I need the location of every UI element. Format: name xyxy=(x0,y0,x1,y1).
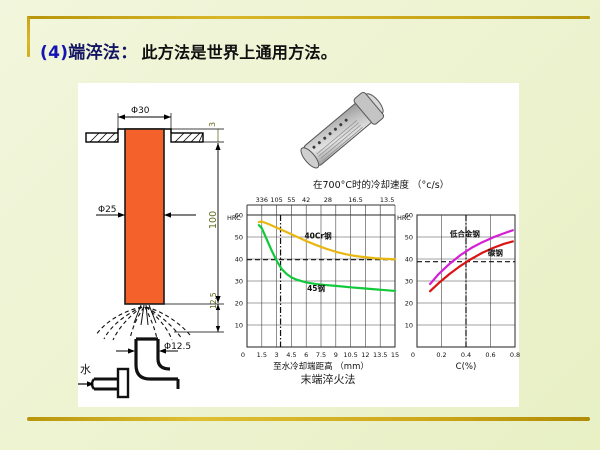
specimen-sketch xyxy=(283,88,403,176)
figure-caption: 末端淬火法 xyxy=(228,371,428,387)
svg-text:9: 9 xyxy=(334,351,338,359)
gold-bottom-rule xyxy=(27,417,590,421)
svg-text:40: 40 xyxy=(405,255,413,263)
slide-canvas: (4)端淬法：此方法是世界上通用方法。 xyxy=(0,0,600,450)
dim-plate-thickness: 3 xyxy=(208,122,217,127)
svg-text:20: 20 xyxy=(235,299,243,307)
svg-text:0: 0 xyxy=(411,351,415,359)
svg-text:13.5: 13.5 xyxy=(380,196,394,204)
svg-text:20: 20 xyxy=(405,299,413,307)
svg-text:16.5: 16.5 xyxy=(348,196,362,204)
svg-text:12: 12 xyxy=(361,351,369,359)
dim-nozzle-diameter: Φ12.5 xyxy=(164,342,191,352)
svg-text:45钢: 45钢 xyxy=(307,283,325,293)
svg-text:10: 10 xyxy=(405,321,413,329)
dim-gap: 12.5 xyxy=(209,292,218,309)
svg-text:1.5: 1.5 xyxy=(257,351,267,359)
svg-text:30: 30 xyxy=(405,277,413,285)
title-colon: ： xyxy=(120,43,137,63)
svg-text:13.5: 13.5 xyxy=(373,351,387,359)
svg-text:低合金钢: 低合金钢 xyxy=(449,228,480,238)
page-title: (4)端淬法：此方法是世界上通用方法。 xyxy=(40,38,337,63)
svg-text:55: 55 xyxy=(287,196,295,204)
svg-text:42: 42 xyxy=(302,196,310,204)
svg-text:50: 50 xyxy=(235,233,243,241)
jominy-apparatus-drawing: Φ30 3 Φ25 xyxy=(78,83,243,407)
title-description: 此方法是世界上通用方法。 xyxy=(142,43,338,62)
gold-left-rule xyxy=(27,17,30,57)
svg-text:6: 6 xyxy=(304,351,308,359)
svg-text:C(%): C(%) xyxy=(456,362,477,372)
gold-top-rule xyxy=(27,16,590,19)
svg-text:0.4: 0.4 xyxy=(461,351,471,359)
figure-panel: Φ30 3 Φ25 xyxy=(78,83,519,407)
cooling-rate-axis-title: 在700°C时的冷却速度 （°c/s） xyxy=(313,177,523,191)
svg-text:0: 0 xyxy=(241,351,245,359)
svg-text:HRC: HRC xyxy=(397,214,411,222)
svg-text:碳钢: 碳钢 xyxy=(488,248,503,258)
svg-text:HRC: HRC xyxy=(227,214,241,222)
svg-text:10: 10 xyxy=(235,321,243,329)
svg-text:50: 50 xyxy=(405,233,413,241)
svg-text:30: 30 xyxy=(235,277,243,285)
svg-text:336: 336 xyxy=(256,196,268,204)
svg-text:105: 105 xyxy=(270,196,282,204)
label-water: 水 xyxy=(80,363,91,376)
svg-text:3: 3 xyxy=(275,351,279,359)
chart-distance-hardness: 1.534.567.5910.51213.5150102030405060HRC… xyxy=(225,193,405,383)
title-number: (4) xyxy=(40,43,68,63)
dim-body-length: 100 xyxy=(208,211,219,229)
svg-text:0.2: 0.2 xyxy=(436,351,446,359)
svg-text:28: 28 xyxy=(324,196,332,204)
chart-carbon-hardness: 0.20.40.60.80102030405060HRC低合金钢碳钢C(%) xyxy=(395,193,523,383)
svg-text:40Cr钢: 40Cr钢 xyxy=(304,230,332,240)
svg-text:4.5: 4.5 xyxy=(286,351,296,359)
svg-text:0.8: 0.8 xyxy=(510,351,520,359)
dim-body-diameter: Φ25 xyxy=(98,205,117,215)
dim-top-diameter: Φ30 xyxy=(131,106,150,116)
svg-text:40: 40 xyxy=(235,255,243,263)
svg-text:7.5: 7.5 xyxy=(316,351,326,359)
svg-text:10.5: 10.5 xyxy=(343,351,357,359)
title-term: 端淬法 xyxy=(68,43,120,63)
svg-text:0.6: 0.6 xyxy=(485,351,495,359)
